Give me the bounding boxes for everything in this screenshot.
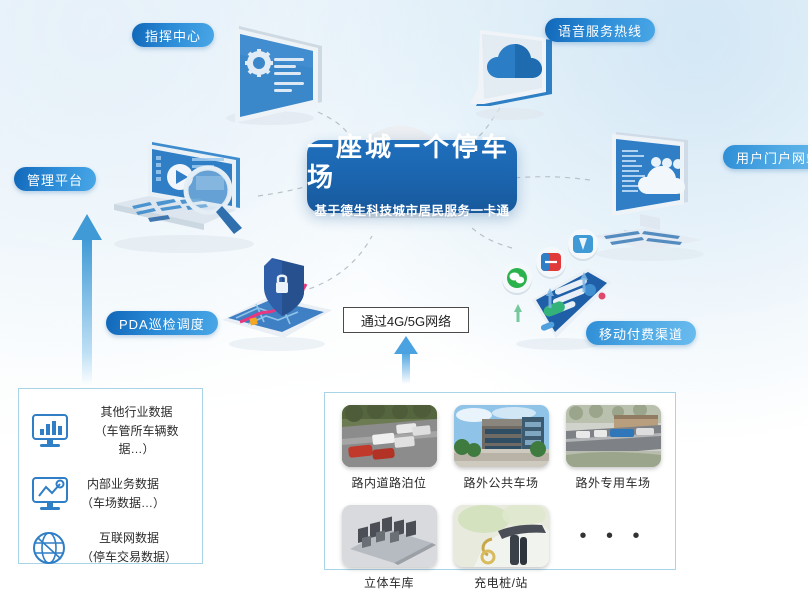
- multi-level-garage-photo: [342, 505, 437, 567]
- scene-caption: 路内道路泊位: [333, 474, 445, 491]
- data-source-item[interactable]: 内部业务数据 （车场数据…）: [29, 475, 192, 513]
- data-source-title: 其他行业数据: [81, 403, 192, 422]
- dedicated-parking-lot-photo: [566, 405, 661, 467]
- hero-title: 一座城一个停车场: [307, 134, 517, 194]
- label-mobile-payment[interactable]: 移动付费渠道: [586, 321, 696, 345]
- label-management-platform[interactable]: 管理平台: [14, 167, 96, 191]
- data-source-item[interactable]: 互联网数据 （停车交易数据）: [29, 529, 192, 567]
- data-sources-panel: 其他行业数据 （车管所车辆数据…） 内部业务数据 （车场数据…）: [18, 388, 203, 564]
- scene-grid: 路内道路泊位: [333, 405, 669, 590]
- union-pay-icon: [566, 228, 600, 262]
- street-parking-photo: [342, 405, 437, 467]
- gear-monitor-icon: [212, 18, 332, 128]
- label-user-portal[interactable]: 用户门户网站: [723, 145, 808, 169]
- scene-item[interactable]: 路外公共车场: [445, 405, 557, 491]
- scene-item[interactable]: 路内道路泊位: [333, 405, 445, 491]
- network-box: 通过4G/5G网络: [343, 307, 469, 333]
- scene-item[interactable]: 路外专用车场: [557, 405, 669, 491]
- data-flow-arrow-left: [70, 212, 104, 388]
- map-tablet-shield-lock-icon: [212, 256, 342, 356]
- data-source-sub: （停车交易数据）: [81, 548, 177, 567]
- ev-charging-photo: [454, 505, 549, 567]
- monitor-bar-chart-icon: [29, 412, 71, 450]
- scene-caption: 路外专用车场: [557, 474, 669, 491]
- monitor-line-chart-icon: [29, 475, 71, 513]
- data-source-sub: （车管所车辆数据…）: [81, 422, 192, 459]
- scene-item[interactable]: 立体车库: [333, 505, 445, 590]
- infographic-canvas: 一座城一个停车场 基于德生科技城市居民服务一卡通 指挥中心 语音服务热线 管理平…: [0, 0, 808, 590]
- payment-flow-arrows: [498, 268, 608, 328]
- label-pda-inspection[interactable]: PDA巡检调度: [106, 311, 218, 335]
- public-parking-building-photo: [454, 405, 549, 467]
- label-voice-hotline[interactable]: 语音服务热线: [545, 18, 655, 42]
- laptop-with-magnifier-icon: [92, 132, 272, 257]
- scene-caption: 路外公共车场: [445, 474, 557, 491]
- data-source-sub: （车场数据…）: [81, 494, 165, 513]
- label-command-center[interactable]: 指挥中心: [132, 23, 214, 47]
- parking-scenes-panel: 路内道路泊位: [324, 392, 676, 570]
- scene-item-more: • • •: [557, 505, 669, 590]
- network-flow-arrow: [392, 336, 420, 384]
- data-source-item[interactable]: 其他行业数据 （车管所车辆数据…）: [29, 403, 192, 459]
- hero-banner: 一座城一个停车场 基于德生科技城市居民服务一卡通: [307, 140, 517, 213]
- globe-network-icon: [29, 529, 71, 567]
- scene-item[interactable]: 充电桩/站: [445, 505, 557, 590]
- hero-subtitle: 基于德生科技城市居民服务一卡通: [314, 200, 509, 219]
- scene-caption: 充电桩/站: [445, 574, 557, 590]
- data-source-title: 内部业务数据: [81, 475, 165, 494]
- data-source-title: 互联网数据: [81, 529, 177, 548]
- desktop-computer-cloud-icon: [584, 126, 724, 266]
- ellipsis-more: • • •: [557, 505, 669, 567]
- scene-caption: 立体车库: [333, 574, 445, 590]
